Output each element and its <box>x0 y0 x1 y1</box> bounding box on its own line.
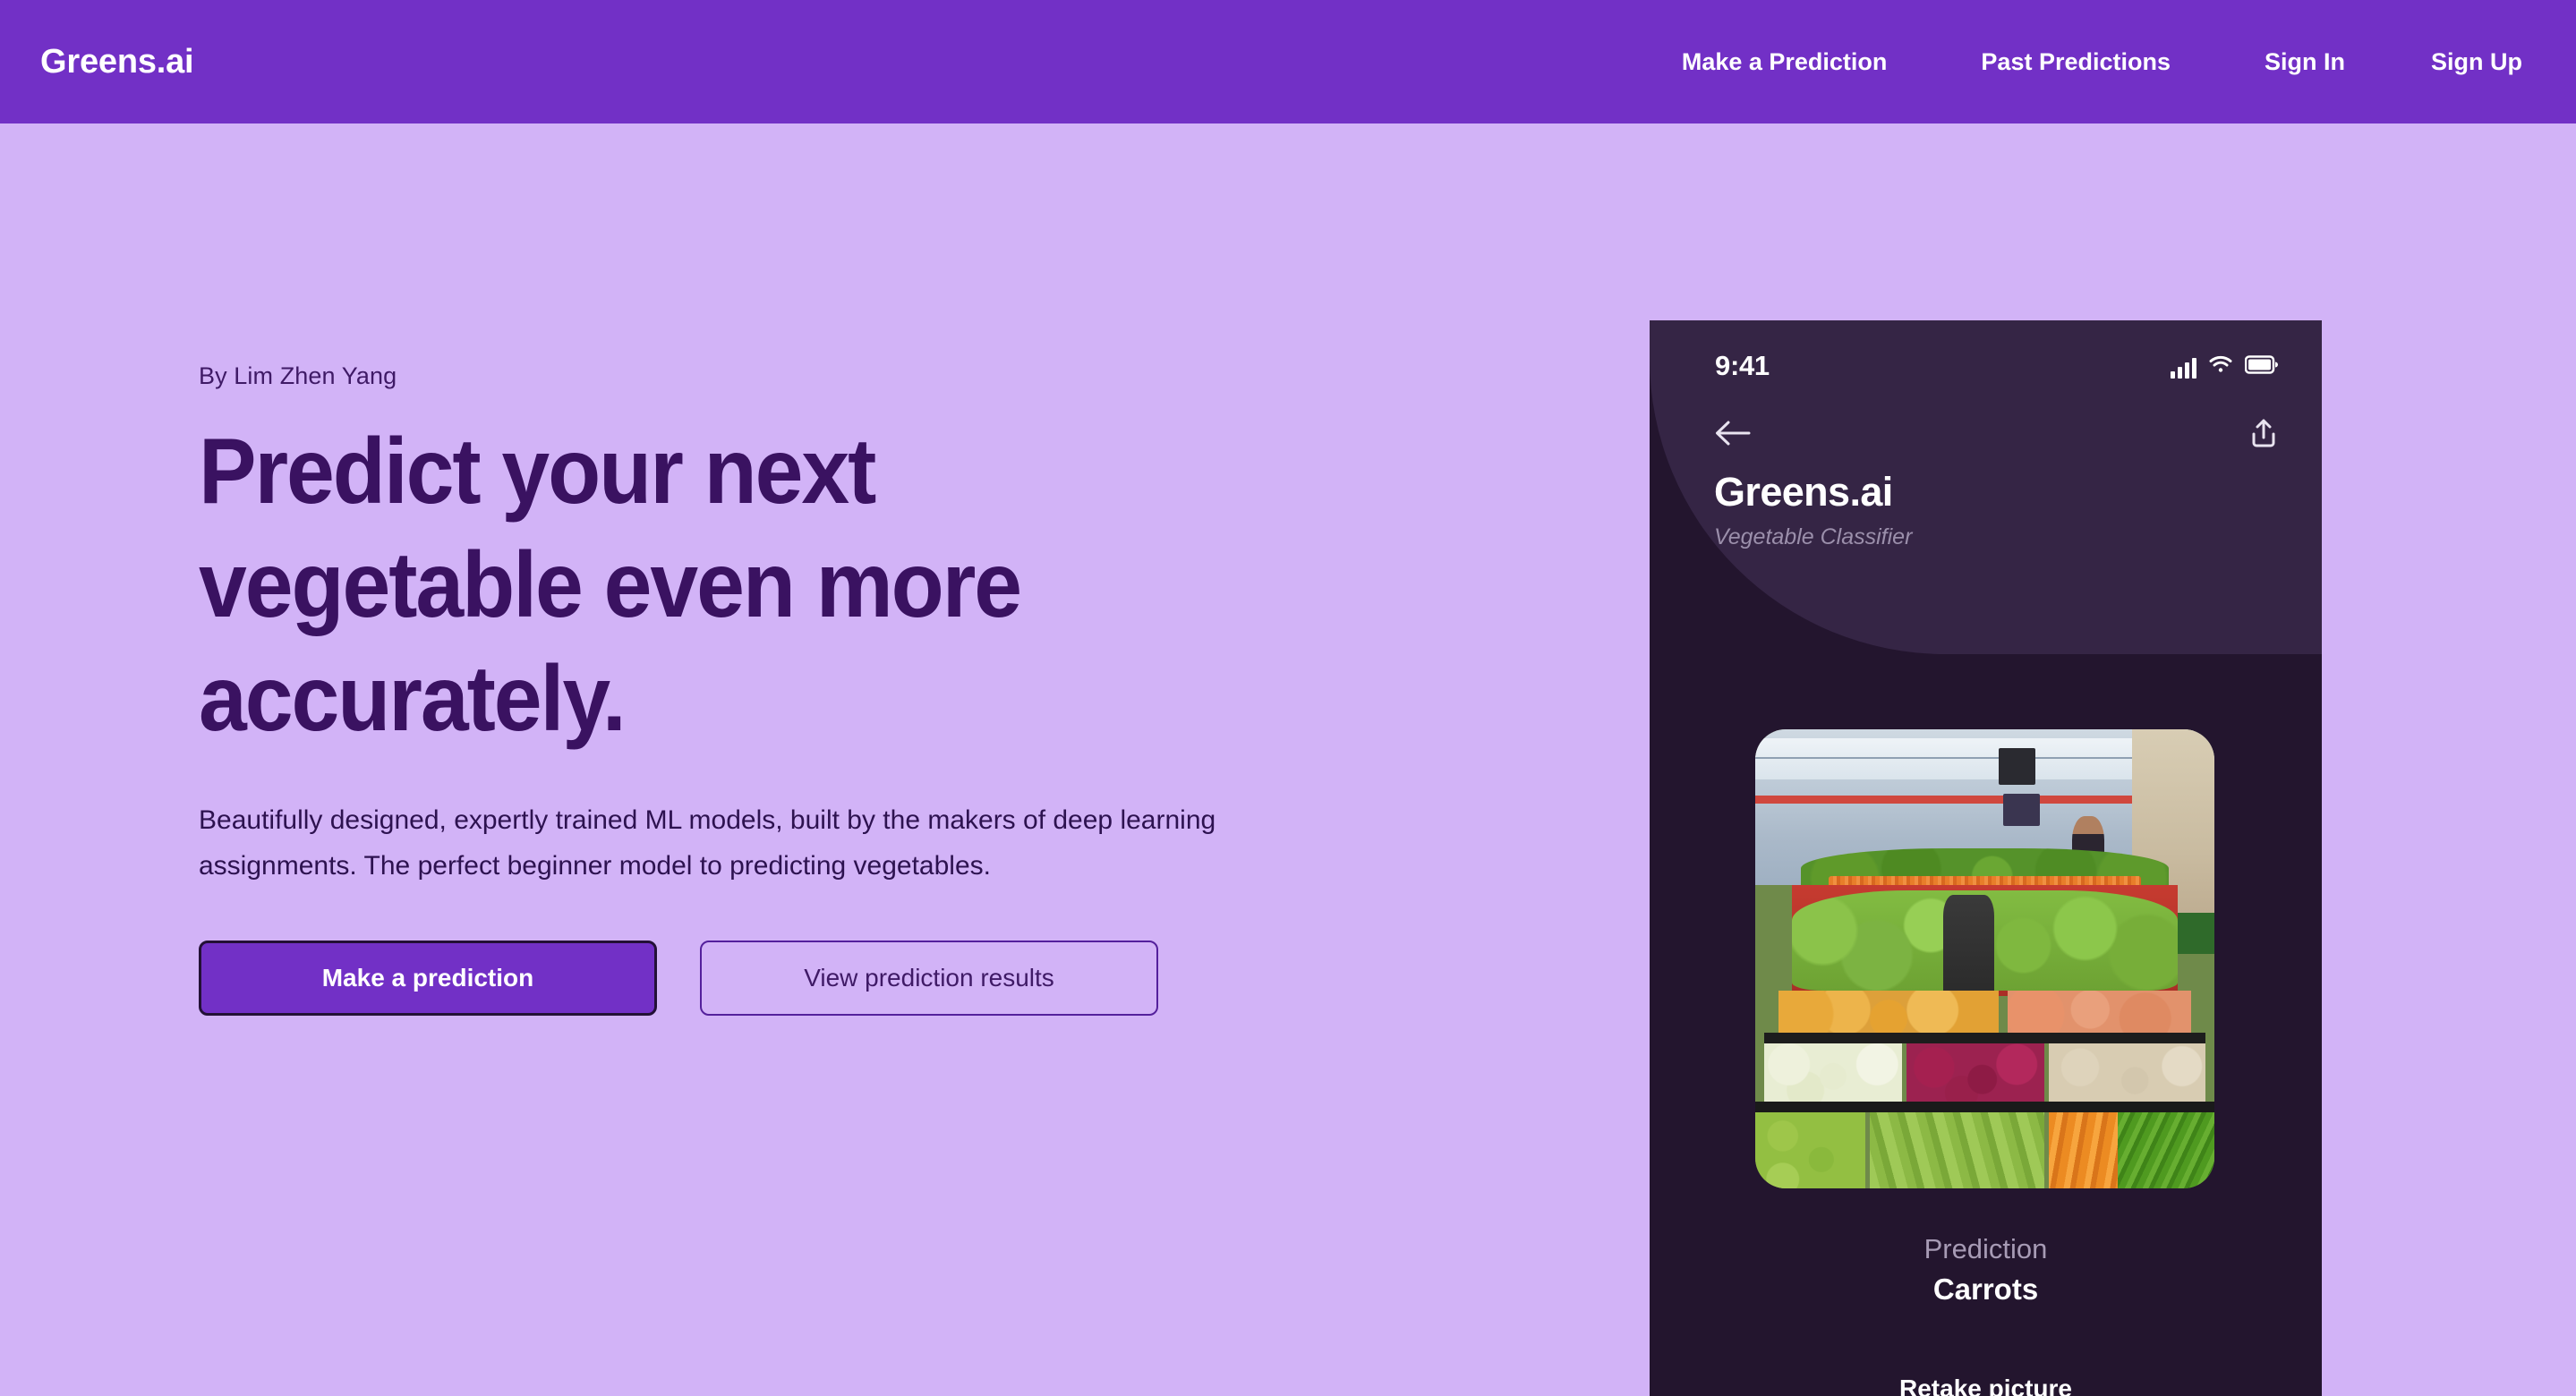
prediction-block: Prediction Carrots <box>1650 1233 2322 1307</box>
phone-status-bar: 9:41 <box>1650 320 2322 392</box>
cta-row: Make a prediction View prediction result… <box>199 941 1318 1016</box>
battery-icon <box>2245 355 2279 379</box>
prediction-label: Prediction <box>1650 1233 2322 1265</box>
market-produce-photo <box>1755 729 2214 1188</box>
nav-link-past-predictions[interactable]: Past Predictions <box>1981 39 2171 85</box>
signal-bars-icon <box>2171 359 2196 379</box>
phone-mockup: 9:41 <box>1650 320 2322 1396</box>
top-navbar: Greens.ai Make a Prediction Past Predict… <box>0 0 2576 123</box>
brand-logo[interactable]: Greens.ai <box>40 43 193 81</box>
phone-app-subtitle: Vegetable Classifier <box>1714 524 1912 550</box>
phone-app-title: Greens.ai <box>1714 469 1912 515</box>
phone-title-block: Greens.ai Vegetable Classifier <box>1714 469 1912 550</box>
produce-photo-art <box>1755 729 2214 1188</box>
nav-links: Make a Prediction Past Predictions Sign … <box>1682 39 2522 85</box>
share-icon[interactable] <box>2248 417 2279 449</box>
hero-description: Beautifully designed, expertly trained M… <box>199 797 1255 889</box>
status-time: 9:41 <box>1715 350 1770 382</box>
view-prediction-results-button[interactable]: View prediction results <box>700 941 1158 1016</box>
back-arrow-icon[interactable] <box>1714 419 1752 447</box>
hero-section: By Lim Zhen Yang Predict your next veget… <box>199 362 1318 1016</box>
nav-link-sign-up[interactable]: Sign Up <box>2431 39 2522 85</box>
page-title: Predict your next vegetable even more ac… <box>199 415 1131 756</box>
prediction-value: Carrots <box>1650 1273 2322 1307</box>
make-a-prediction-button[interactable]: Make a prediction <box>199 941 657 1016</box>
status-icons <box>2171 354 2279 379</box>
author-byline: By Lim Zhen Yang <box>199 362 1318 390</box>
phone-topbar <box>1650 417 2322 449</box>
nav-link-make-a-prediction[interactable]: Make a Prediction <box>1682 39 1888 85</box>
nav-link-sign-in[interactable]: Sign In <box>2265 39 2345 85</box>
retake-picture-button[interactable]: Retake picture <box>1650 1375 2322 1396</box>
wifi-icon <box>2208 354 2233 379</box>
